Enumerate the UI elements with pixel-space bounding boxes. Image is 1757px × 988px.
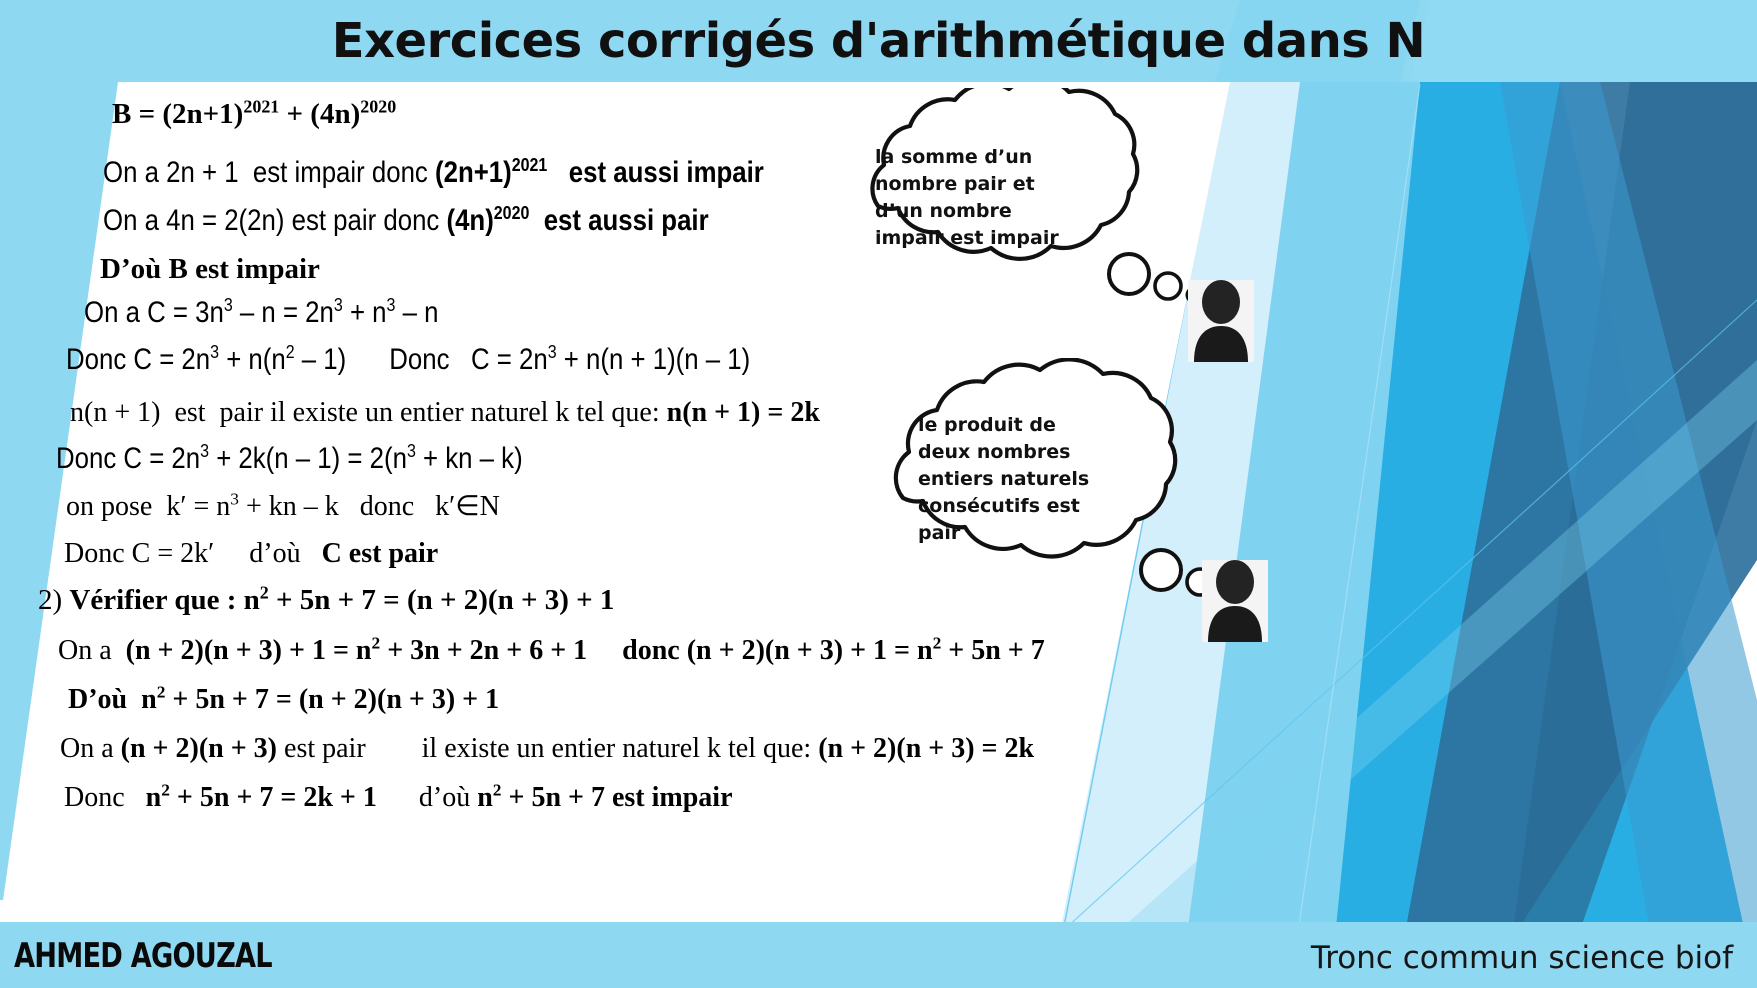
person-icon-2	[1202, 560, 1268, 642]
line-dou-b-impair: D’où B est impair	[100, 255, 320, 284]
line-produit-pair: On a (n + 2)(n + 3) est pair il existe u…	[60, 735, 1034, 763]
line-b-definition: B = (2n+1)2021 + (4n)2020	[112, 100, 396, 129]
line-2n1-impair: On a 2n + 1 est impair donc (2n+1)2021 e…	[103, 158, 764, 188]
line-conclusion-impair: Donc n2 + 5n + 7 = 2k + 1 d’où n2 + 5n +…	[64, 784, 733, 812]
slide: Exercices corrigés d'arithmétique dans N…	[0, 0, 1757, 988]
page-title: Exercices corrigés d'arithmétique dans N	[0, 0, 1757, 82]
person-icon-1	[1188, 280, 1254, 362]
line-c-factored: Donc C = 2n3 + n(n2 – 1) Donc C = 2n3 + …	[66, 345, 750, 375]
thought-bubble-2-text: le produit de deux nombres entiers natur…	[918, 412, 1118, 547]
line-c-2k: Donc C = 2n3 + 2k(n – 1) = 2(n3 + kn – k…	[56, 444, 523, 474]
thought-bubble-1-text: la somme d’un nombre pair et d’un nombre…	[875, 144, 1090, 252]
footer-course: Tronc commun science biof	[1311, 940, 1733, 976]
line-nn1-pair: n(n + 1) est pair il existe un entier na…	[70, 399, 820, 427]
line-4n-pair: On a 4n = 2(2n) est pair donc (4n)2020 e…	[103, 206, 709, 236]
line-dou-identity: D’où n2 + 5n + 7 = (n + 2)(n + 3) + 1	[68, 686, 499, 714]
line-on-pose-kprime: on pose k′ = n3 + kn – k donc k′∈N	[66, 493, 500, 521]
line-question-2: 2) Vérifier que : n2 + 5n + 7 = (n + 2)(…	[38, 586, 614, 615]
line-c-expansion: On a C = 3n3 – n = 2n3 + n3 – n	[84, 298, 438, 328]
line-c-est-pair: Donc C = 2k′ d’où C est pair	[64, 540, 438, 568]
line-expansion-check: On a (n + 2)(n + 3) + 1 = n2 + 3n + 2n +…	[58, 637, 1045, 665]
footer-author: AHMED AGOUZAL	[14, 936, 272, 976]
